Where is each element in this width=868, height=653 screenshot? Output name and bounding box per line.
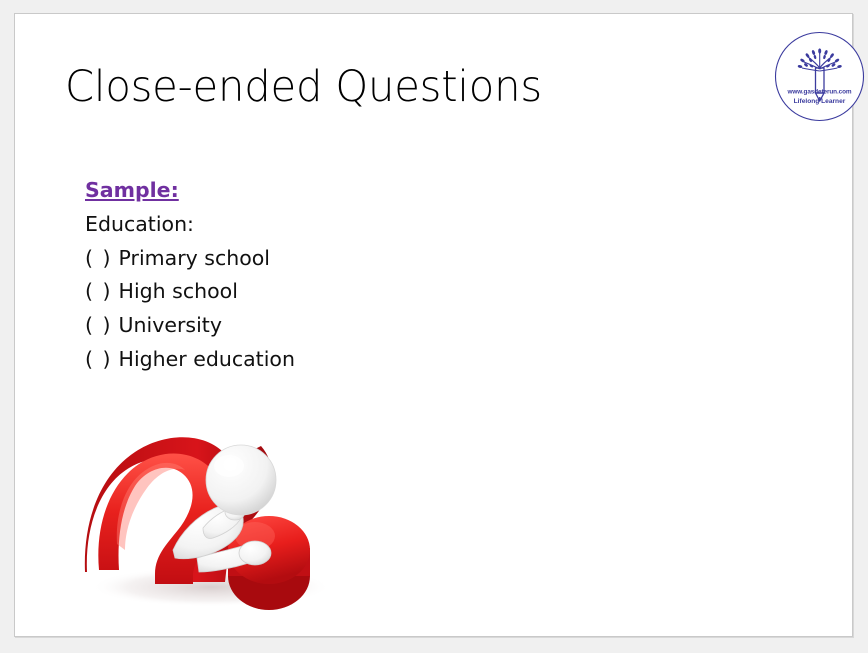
answer-option-label-1: Primary school	[119, 246, 270, 270]
figure-head	[206, 445, 276, 515]
radio-marker-1: ( )	[85, 246, 112, 270]
answer-option-label-4: Higher education	[119, 347, 295, 371]
question-mark-with-figure-illustration	[77, 424, 345, 614]
question-prompt: Education:	[85, 208, 505, 242]
logo-circle-border	[776, 33, 864, 121]
sample-heading: Sample:	[85, 174, 505, 208]
brand-logo: www.gasdeterun.com Lifelong Learner	[774, 31, 865, 122]
slide-canvas: Close-ended Questions Sample: Education:…	[14, 13, 853, 637]
answer-option-1: ( ) Primary school	[85, 242, 505, 276]
content-placeholder: Sample: Education: ( ) Primary school ( …	[85, 174, 505, 377]
radio-marker-2: ( )	[85, 279, 112, 303]
answer-option-label-2: High school	[119, 279, 238, 303]
figure-foot	[239, 541, 271, 565]
page-title: Close-ended Questions	[65, 62, 542, 112]
logo-website: www.gasdeterun.com	[786, 89, 851, 96]
radio-marker-4: ( )	[85, 347, 112, 371]
answer-option-2: ( ) High school	[85, 275, 505, 309]
logo-tagline: Lifelong Learner	[794, 98, 846, 105]
answer-option-4: ( ) Higher education	[85, 343, 505, 377]
figure-head-highlight	[214, 455, 244, 477]
answer-option-label-3: University	[119, 313, 222, 337]
radio-marker-3: ( )	[85, 313, 112, 337]
answer-option-3: ( ) University	[85, 309, 505, 343]
